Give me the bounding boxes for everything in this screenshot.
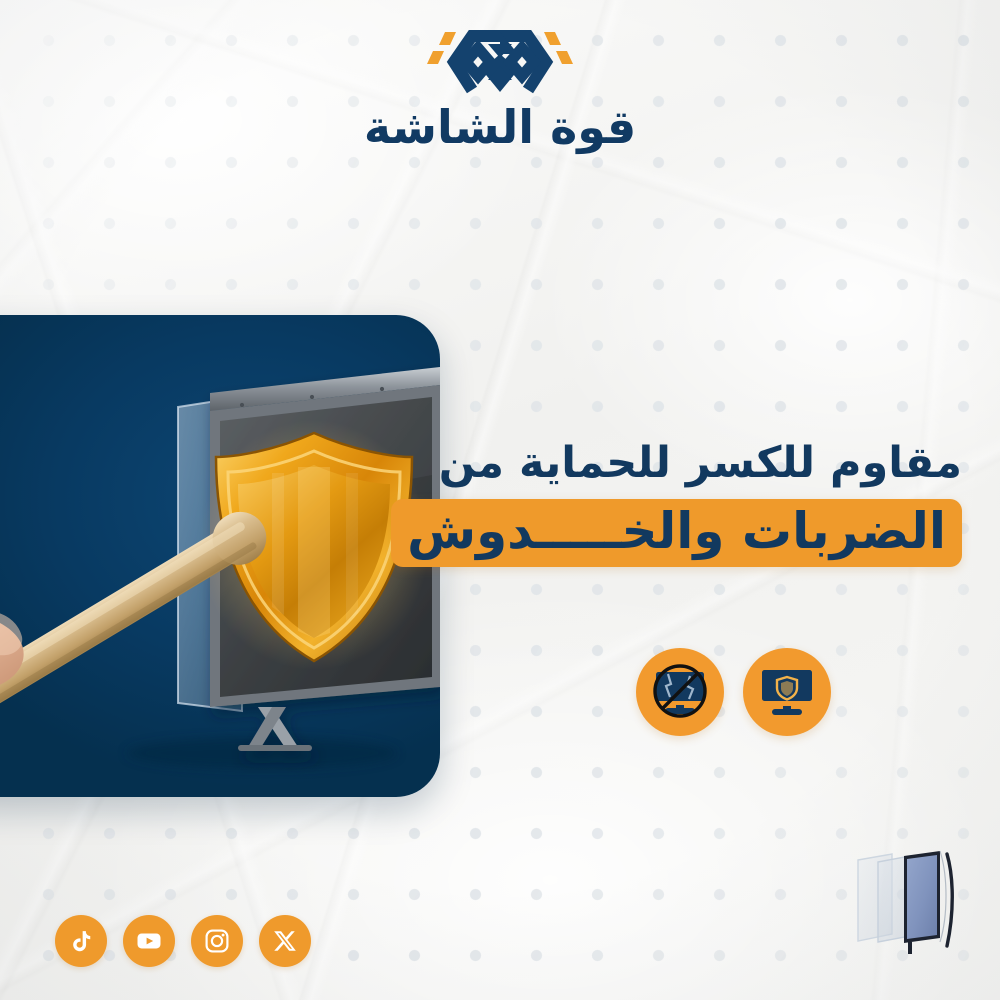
tiktok-icon (69, 929, 94, 954)
youtube-icon (135, 927, 163, 955)
x-twitter-icon (272, 928, 298, 954)
social-link-instagram[interactable] (191, 915, 243, 967)
tv-screen-protector-icon (848, 842, 968, 962)
logo-monogram-icon (412, 24, 588, 96)
tv-with-shield-icon (759, 666, 815, 718)
social-link-youtube[interactable] (123, 915, 175, 967)
brand-name: قوة الشاشة (364, 104, 636, 150)
cracked-tv-prohibited-icon (650, 664, 710, 720)
social-link-tiktok[interactable] (55, 915, 107, 967)
brand-logo: قوة الشاشة (0, 24, 1000, 150)
headline-highlight-bar: الضربات والخـــــدوش (391, 499, 962, 568)
headline-line-2: الضربات والخـــــدوش (407, 505, 946, 558)
screen-protector-graphic (848, 842, 968, 966)
poster-canvas: قوة الشاشة (0, 0, 1000, 1000)
headline-line-1: مقاوم للكسر للحماية من (362, 438, 962, 489)
badge-protected-screen[interactable] (743, 648, 831, 736)
headline-block: مقاوم للكسر للحماية من الضربات والخـــــ… (362, 438, 962, 567)
social-links (55, 915, 311, 967)
instagram-icon (204, 928, 230, 954)
feature-badges (636, 648, 831, 736)
badge-no-cracked-screen[interactable] (636, 648, 724, 736)
social-link-x-twitter[interactable] (259, 915, 311, 967)
